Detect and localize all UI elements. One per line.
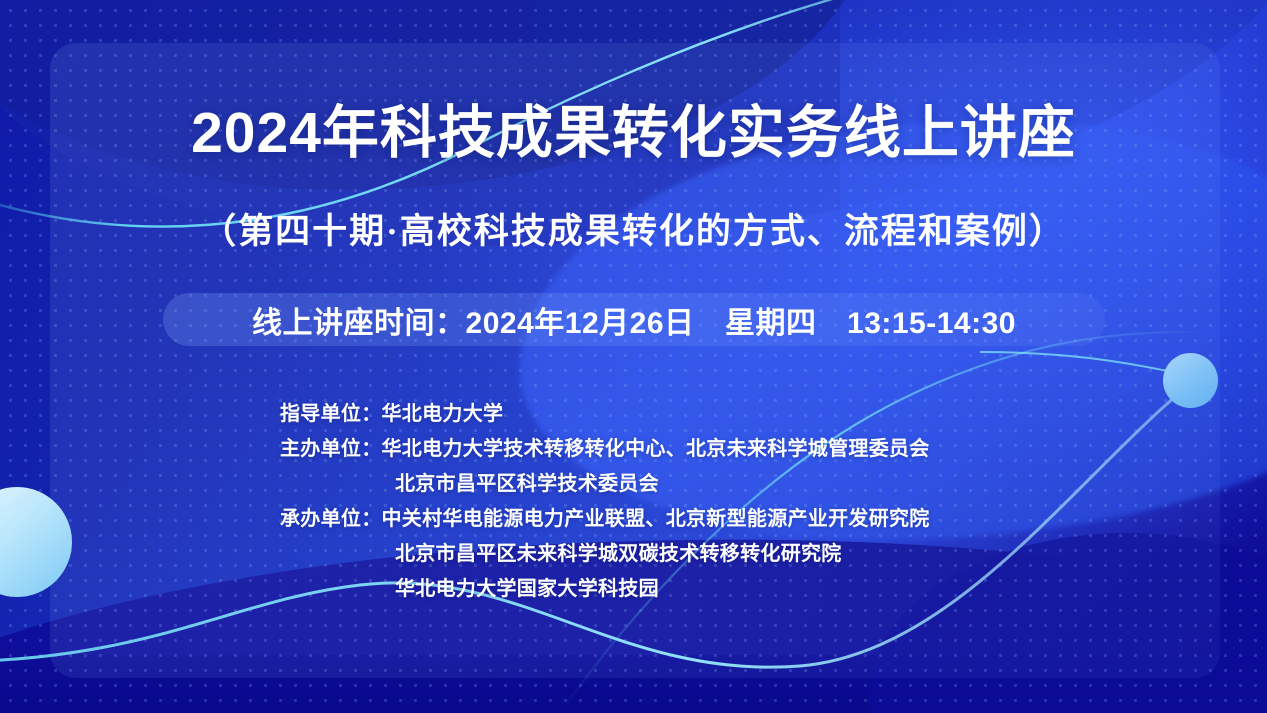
organizations-block: 指导单位：华北电力大学 主办单位：华北电力大学技术转移转化中心、北京未来科学城管… [280, 397, 1140, 607]
time-banner-text: 线上讲座时间：2024年12月26日 星期四 13:15-14:30 [163, 293, 1105, 346]
org-line-organizer-2: 北京市昌平区未来科学城双碳技术转移转化研究院 [280, 537, 1140, 572]
org-line-guidance: 指导单位：华北电力大学 [280, 397, 1140, 432]
page-title: 2024年科技成果转化实务线上讲座 [0, 104, 1267, 164]
org-line-organizer-1: 承办单位：中关村华电能源电力产业联盟、北京新型能源产业开发研究院 [280, 502, 1140, 537]
poster-canvas: 2024年科技成果转化实务线上讲座 （第四十期·高校科技成果转化的方式、流程和案… [0, 0, 1267, 713]
poster-content: 2024年科技成果转化实务线上讲座 （第四十期·高校科技成果转化的方式、流程和案… [0, 0, 1267, 713]
org-line-host-2: 北京市昌平区科学技术委员会 [280, 467, 1140, 502]
org-line-organizer-3: 华北电力大学国家大学科技园 [280, 572, 1140, 607]
org-line-host-1: 主办单位：华北电力大学技术转移转化中心、北京未来科学城管理委员会 [280, 432, 1140, 467]
page-subtitle: （第四十期·高校科技成果转化的方式、流程和案例） [0, 203, 1267, 254]
